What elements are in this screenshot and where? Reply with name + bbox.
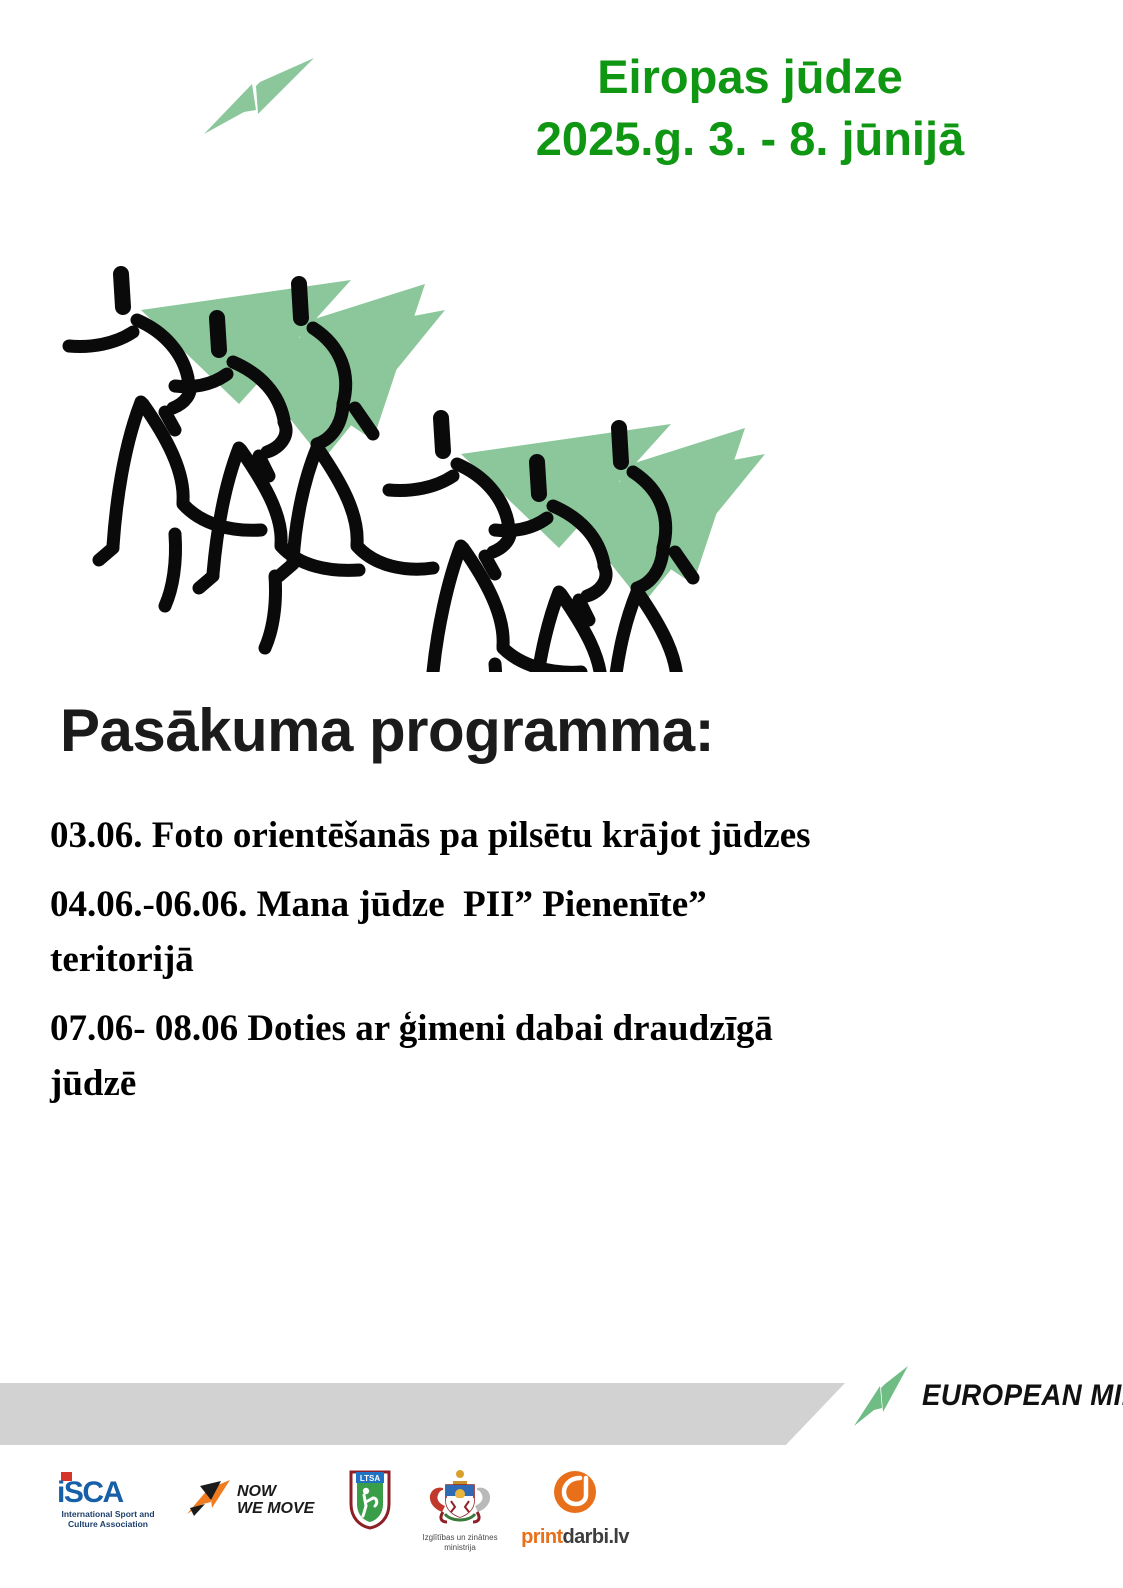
program-item: 07.06- 08.06 Doties ar ģimeni dabai drau… bbox=[50, 1001, 1060, 1111]
isca-subtitle-line-1: International Sport and bbox=[61, 1509, 154, 1519]
gray-angled-band bbox=[0, 1383, 845, 1445]
program-item-line: 03.06. Foto orientēšanās pa pilsētu krāj… bbox=[50, 808, 1060, 863]
printdarbi-label-part-1: print bbox=[521, 1526, 562, 1548]
latvia-coat-of-arms-icon bbox=[415, 1513, 505, 1530]
nwm-line-1: NOW bbox=[237, 1483, 276, 1500]
sponsor-now-we-move: NOW WE MOVE bbox=[185, 1478, 315, 1523]
program-item: 04.06.-06.06. Mana jūdze PII” Pienenīte”… bbox=[50, 877, 1060, 987]
printdarbi-label-part-2: darbi.lv bbox=[563, 1526, 629, 1548]
sponsor-printdarbi: printdarbi.lv bbox=[515, 1468, 635, 1549]
ltsa-shield-icon: LTSA bbox=[346, 1517, 394, 1534]
program-item: 03.06. Foto orientēšanās pa pilsētu krāj… bbox=[50, 808, 1060, 863]
svg-text:iSCA: iSCA bbox=[57, 1476, 124, 1506]
printdarbi-label: printdarbi.lv bbox=[515, 1526, 635, 1549]
isca-subtitle-line-2: Culture Association bbox=[68, 1519, 148, 1529]
sponsor-logos: iSCA International Sport and Culture Ass… bbox=[45, 1462, 605, 1567]
sponsor-ltsa: LTSA bbox=[340, 1468, 400, 1535]
european-mile-arrow-icon bbox=[196, 48, 316, 143]
running-stick-figures-illustration bbox=[55, 262, 795, 672]
isca-subtitle: International Sport and Culture Associat… bbox=[53, 1509, 163, 1529]
ltsa-banner-text: LTSA bbox=[360, 1474, 381, 1483]
program-item-line: teritorijā bbox=[50, 932, 1060, 987]
isca-logo-icon: iSCA bbox=[53, 1472, 163, 1506]
izm-subtitle-line-1: Izglītības un zinātnes bbox=[422, 1533, 497, 1542]
european-mile-logo: EUROPEAN MILE bbox=[848, 1360, 1123, 1432]
izm-subtitle-line-2: ministrija bbox=[444, 1543, 476, 1552]
program-heading: Pasākuma programma: bbox=[60, 696, 714, 765]
program-item-line: 07.06- 08.06 Doties ar ģimeni dabai drau… bbox=[50, 1001, 1060, 1056]
poster-root: Eiropas jūdze 2025.g. 3. - 8. jūnijā bbox=[0, 0, 1123, 1588]
program-list: 03.06. Foto orientēšanās pa pilsētu krāj… bbox=[50, 808, 1060, 1125]
sponsor-isca: iSCA International Sport and Culture Ass… bbox=[53, 1472, 163, 1529]
page-title: Eiropas jūdze 2025.g. 3. - 8. jūnijā bbox=[430, 46, 1070, 170]
title-line-1: Eiropas jūdze bbox=[597, 50, 903, 103]
printdarbi-circle-icon bbox=[548, 1505, 602, 1522]
european-mile-arrow-icon bbox=[848, 1360, 910, 1432]
sponsor-izglitibas-ministrija: Izglītības un zinātnes ministrija bbox=[405, 1468, 515, 1552]
program-item-line: 04.06.-06.06. Mana jūdze PII” Pienenīte” bbox=[50, 877, 1060, 932]
title-line-2: 2025.g. 3. - 8. jūnijā bbox=[430, 108, 1070, 170]
european-mile-label: EUROPEAN MILE bbox=[922, 1379, 1123, 1413]
now-we-move-arrow-icon bbox=[185, 1478, 231, 1523]
program-item-line: jūdzē bbox=[50, 1056, 1060, 1111]
now-we-move-label: NOW WE MOVE bbox=[237, 1484, 314, 1518]
izm-subtitle: Izglītības un zinātnes ministrija bbox=[405, 1533, 515, 1552]
nwm-line-2: WE MOVE bbox=[237, 1500, 314, 1517]
